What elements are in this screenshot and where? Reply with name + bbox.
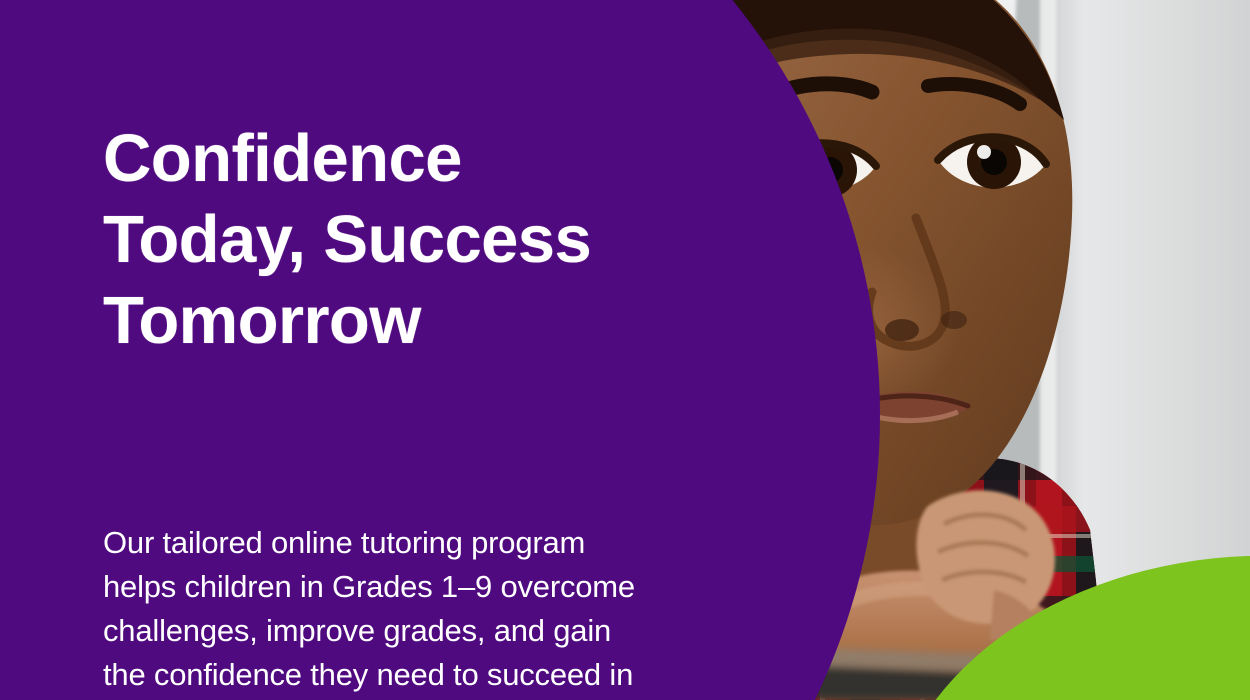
purple-circle-shape	[0, 0, 880, 700]
hero-banner: Confidence Today, Success Tomorrow Our t…	[0, 0, 1250, 700]
